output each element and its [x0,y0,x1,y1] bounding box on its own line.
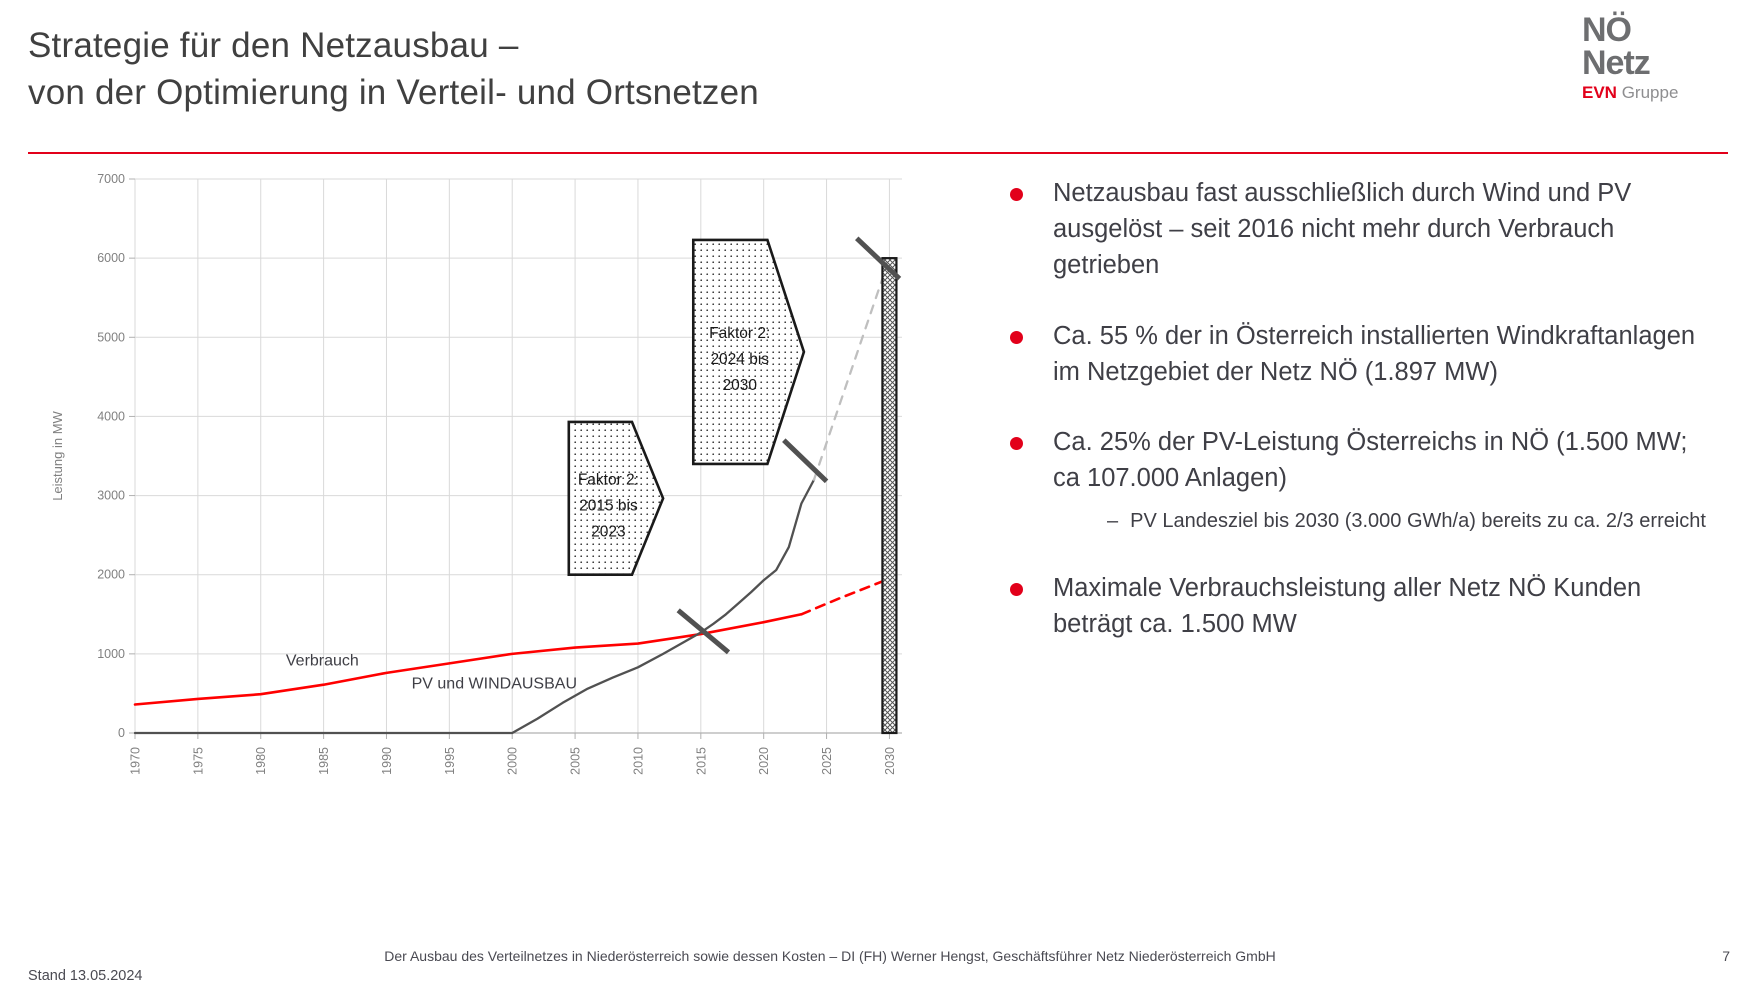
series-label-verbrauch: Verbrauch [286,653,359,670]
bullet-dot-icon [1010,331,1023,344]
bullet-item: Maximale Verbrauchsleistung aller Netz N… [1010,570,1710,642]
x-tick-label: 1980 [254,747,268,775]
bullet-item: Netzausbau fast ausschließlich durch Win… [1010,175,1710,284]
y-tick-label: 2000 [97,568,125,582]
bullet-item: Ca. 55 % der in Österreich installierten… [1010,318,1710,390]
x-tick-label: 1985 [317,747,331,775]
x-tick-label: 2020 [757,747,771,775]
x-tick-label: 2030 [883,747,897,775]
bullet-text: Ca. 55 % der in Österreich installierten… [1053,318,1710,390]
bullet-list: Netzausbau fast ausschließlich durch Win… [1010,175,1710,676]
y-tick-label: 5000 [97,330,125,344]
logo-line-noe: NÖ [1582,14,1732,46]
x-tick-label: 2005 [569,747,583,775]
bullet-text: Ca. 25% der PV-Leistung Österreichs in N… [1053,424,1710,496]
chart-callouts: Faktor 2:2015 bis2023Faktor 2:2024 bis20… [569,240,804,575]
target-bar-2030 [882,258,896,733]
footer-stand: Stand 13.05.2024 [28,968,143,984]
header-divider [28,152,1728,154]
x-tick-label: 1975 [191,747,205,775]
chart-container: 01000200030004000500060007000Leistung in… [40,165,920,845]
x-tick-label: 2015 [694,747,708,775]
bullet-text: Maximale Verbrauchsleistung aller Netz N… [1053,570,1710,642]
sub-bullet-text: PV Landesziel bis 2030 (3.000 GWh/a) ber… [1130,508,1706,536]
y-tick-label: 1000 [97,647,125,661]
bullet-dot-icon [1010,583,1023,596]
x-tick-label: 1995 [443,747,457,775]
callout-factor-2024-2030-line: Faktor 2: [709,325,770,342]
sub-bullet-item: –PV Landesziel bis 2030 (3.000 GWh/a) be… [1107,508,1710,536]
bullet-dot-icon [1010,437,1023,450]
callout-factor-2015-2023-line: Faktor 2: [578,471,639,488]
logo-gruppe: Gruppe [1617,83,1678,102]
x-tick-label: 2025 [820,747,834,775]
bullet-dot-icon [1010,188,1023,201]
footer-note: Der Ausbau des Verteilnetzes in Niederös… [240,948,1420,964]
y-tick-label: 7000 [97,172,125,186]
logo-noe-netz: NÖ Netz EVN Gruppe [1582,14,1732,101]
callout-factor-2015-2023-line: 2023 [591,523,625,540]
series-label-pv-und-windausbau: PV und WINDAUSBAU [412,676,577,693]
page-number: 7 [1722,948,1730,964]
bullet-text: Netzausbau fast ausschließlich durch Win… [1053,175,1710,284]
page-title: Strategie für den Netzausbau – von der O… [28,22,1028,117]
leistung-chart: 01000200030004000500060007000Leistung in… [40,165,920,845]
callout-factor-2024-2030-line: 2024 bis [710,351,769,368]
bullet-item: Ca. 25% der PV-Leistung Österreichs in N… [1010,424,1710,536]
y-tick-label: 0 [118,726,125,740]
x-tick-label: 1990 [380,747,394,775]
x-tick-label: 1970 [129,747,143,775]
y-tick-label: 3000 [97,489,125,503]
series-verbrauch-prognose [801,579,889,615]
y-tick-label: 6000 [97,251,125,265]
logo-evn-gruppe: EVN Gruppe [1582,84,1732,101]
chart-series-labels: VerbrauchPV und WINDAUSBAU [286,653,577,693]
y-axis-title: Leistung in MW [50,410,65,500]
series-pv-und-windausbau-prognose [814,258,889,480]
slide: Strategie für den Netzausbau – von der O… [0,0,1756,989]
logo-evn: EVN [1582,83,1617,102]
logo-line-netz: Netz [1582,46,1732,80]
callout-factor-2015-2023-line: 2015 bis [579,497,638,514]
x-tick-label: 2010 [631,747,645,775]
chart-gridlines [135,179,902,733]
callout-factor-2024-2030-line: 2030 [723,377,758,394]
sub-bullet-dash-icon: – [1107,508,1118,535]
x-tick-label: 2000 [506,747,520,775]
y-tick-label: 4000 [97,409,125,423]
